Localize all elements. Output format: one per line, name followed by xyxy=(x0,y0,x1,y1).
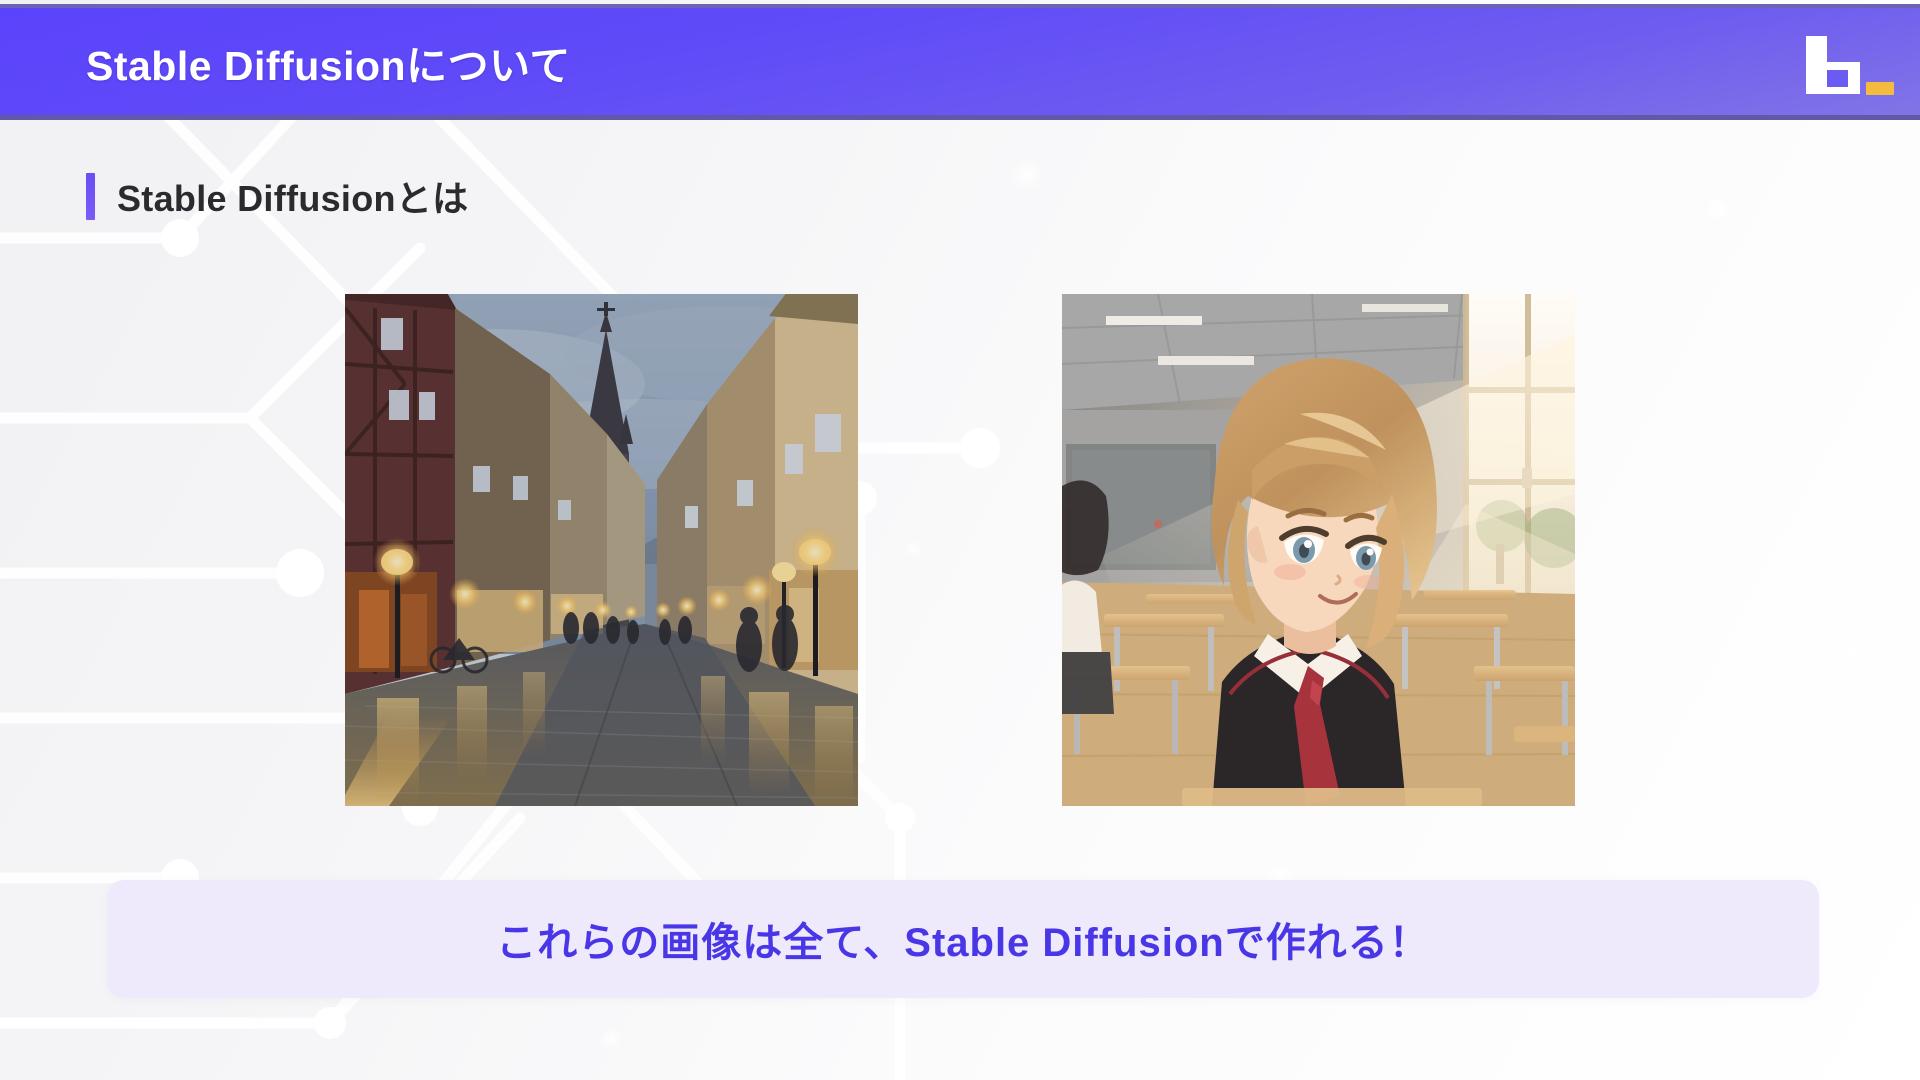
slide-header: Stable Diffusionについて xyxy=(0,4,1920,120)
section-heading: Stable Diffusionとは xyxy=(86,170,468,222)
section-accent-bar xyxy=(86,173,95,220)
sample-image-photorealistic-street xyxy=(345,294,858,806)
highlight-callout-box: これらの画像は全て、Stable Diffusionで作れる！ xyxy=(107,880,1819,998)
section-heading-label: Stable Diffusionとは xyxy=(117,170,468,222)
logo-underscore-accent xyxy=(1866,82,1894,95)
sample-image-anime-classroom-girl xyxy=(1062,294,1575,806)
slide: Stable Diffusionについて Stable Diffusionとは xyxy=(0,0,1920,1080)
brand-logo-b-icon xyxy=(1788,26,1884,98)
callout-message: これらの画像は全て、Stable Diffusionで作れる！ xyxy=(496,910,1429,968)
page-title: Stable Diffusionについて xyxy=(86,32,571,92)
